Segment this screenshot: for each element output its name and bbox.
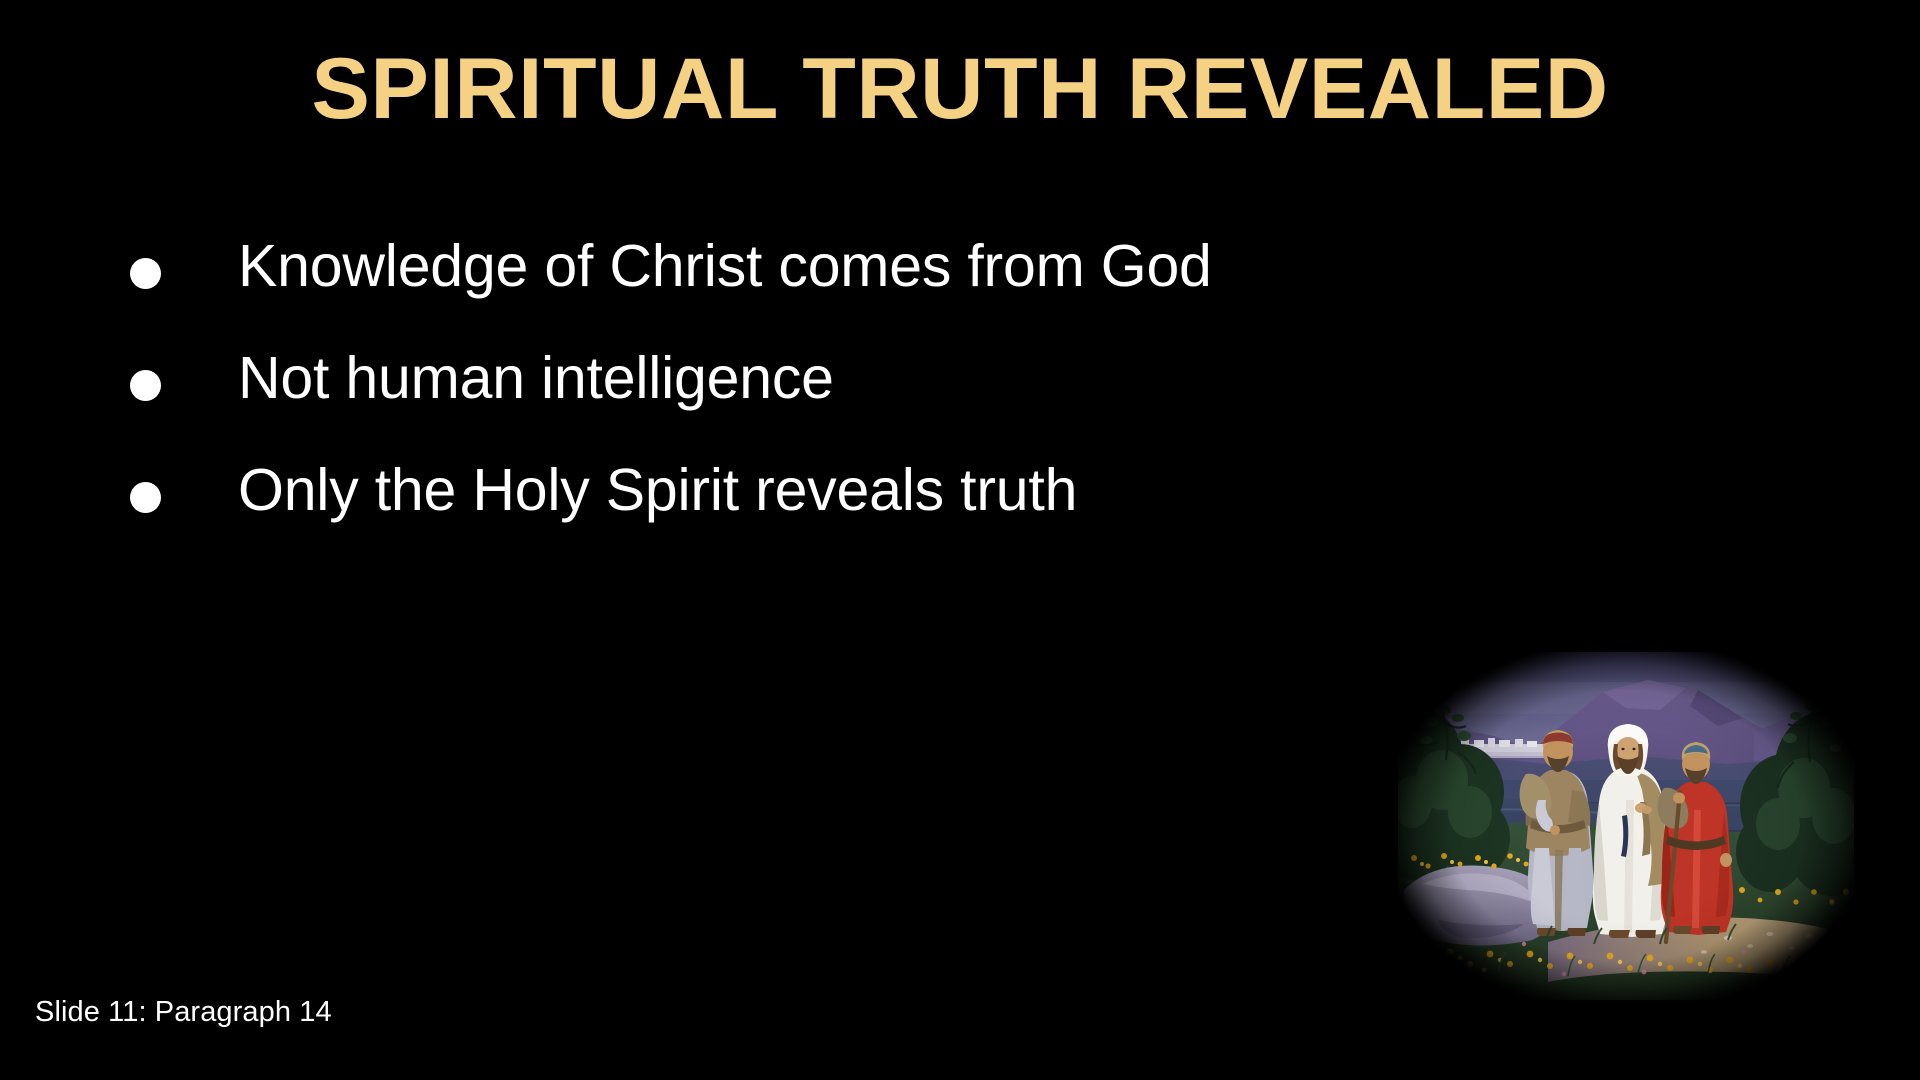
bullet-item-label: Knowledge of Christ comes from God bbox=[238, 236, 1380, 297]
bullet-item-label: Only the Holy Spirit reveals truth bbox=[238, 460, 1380, 521]
bullet-dot-icon bbox=[130, 258, 161, 289]
bullet-dot-icon bbox=[130, 370, 161, 401]
bullet-item-label: Not human intelligence bbox=[238, 348, 1380, 409]
list-item: Knowledge of Christ comes from God bbox=[130, 236, 1380, 348]
page-title: SPIRITUAL TRUTH REVEALED bbox=[0, 46, 1920, 132]
slide-footer: Slide 11: Paragraph 14 bbox=[35, 995, 332, 1030]
bullet-list: Knowledge of Christ comes from God Not h… bbox=[130, 236, 1380, 572]
list-item: Only the Holy Spirit reveals truth bbox=[130, 460, 1380, 572]
bullet-dot-icon bbox=[130, 482, 161, 513]
road-to-emmaus-artwork bbox=[1398, 652, 1854, 1000]
road-to-emmaus-painting bbox=[1398, 652, 1854, 1000]
list-item: Not human intelligence bbox=[130, 348, 1380, 460]
presentation-slide: SPIRITUAL TRUTH REVEALED Knowledge of Ch… bbox=[0, 0, 1920, 1080]
